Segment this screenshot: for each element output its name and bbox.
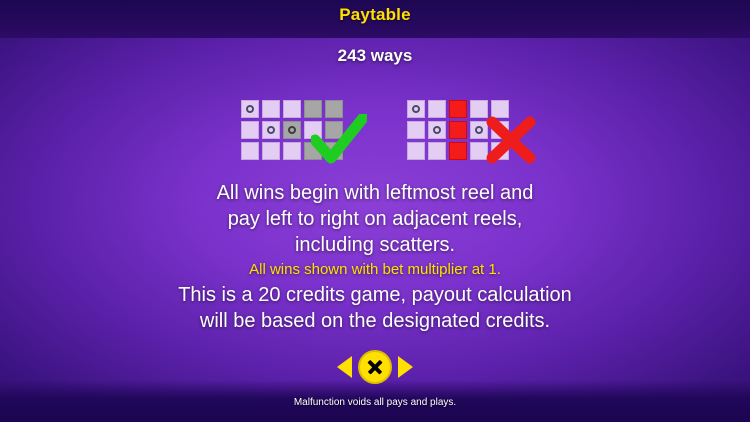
- grid-cell: [283, 142, 301, 160]
- check-mark-icon: [311, 114, 367, 166]
- valid-win-grid: [241, 100, 343, 160]
- grid-cell: [407, 100, 425, 118]
- previous-page-arrow-icon[interactable]: [337, 356, 352, 378]
- reel-symbol-icon: [267, 126, 275, 134]
- grid-cell: [262, 121, 280, 139]
- grid-cell: [428, 142, 446, 160]
- rules-line: pay left to right on adjacent reels,: [0, 206, 750, 232]
- malfunction-notice: Malfunction voids all pays and plays.: [0, 397, 750, 408]
- page-title: Paytable: [0, 5, 750, 25]
- grid-cell: [449, 100, 467, 118]
- next-page-arrow-icon[interactable]: [398, 356, 413, 378]
- reel-symbol-icon: [475, 126, 483, 134]
- reel-symbol-icon: [433, 126, 441, 134]
- reel-symbol-icon: [246, 105, 254, 113]
- invalid-win-grid: [407, 100, 509, 160]
- grid-cell: [407, 142, 425, 160]
- footer-navigation: [0, 350, 750, 384]
- win-direction-diagrams: [0, 100, 750, 160]
- rules-line: All wins begin with leftmost reel and: [0, 180, 750, 206]
- grid-cell: [241, 142, 259, 160]
- grid-cell: [428, 100, 446, 118]
- close-button[interactable]: [358, 350, 392, 384]
- cross-mark-icon: [485, 116, 537, 164]
- reel-symbol-icon: [412, 105, 420, 113]
- paytable-screen: Paytable 243 ways: [0, 0, 750, 422]
- grid-cell: [449, 121, 467, 139]
- reel-symbol-icon: [288, 126, 296, 134]
- rules-text: All wins begin with leftmost reel and pa…: [0, 180, 750, 334]
- grid-cell: [283, 121, 301, 139]
- rules-line-multiplier: All wins shown with bet multiplier at 1.: [0, 258, 750, 282]
- grid-cell: [283, 100, 301, 118]
- ways-label: 243 ways: [0, 46, 750, 66]
- rules-line: including scatters.: [0, 232, 750, 258]
- grid-cell: [262, 142, 280, 160]
- grid-cell: [428, 121, 446, 139]
- grid-cell: [407, 121, 425, 139]
- grid-cell: [262, 100, 280, 118]
- grid-cell: [241, 100, 259, 118]
- rules-line: will be based on the designated credits.: [0, 308, 750, 334]
- grid-cell: [449, 142, 467, 160]
- rules-line: This is a 20 credits game, payout calcul…: [0, 282, 750, 308]
- grid-cell: [241, 121, 259, 139]
